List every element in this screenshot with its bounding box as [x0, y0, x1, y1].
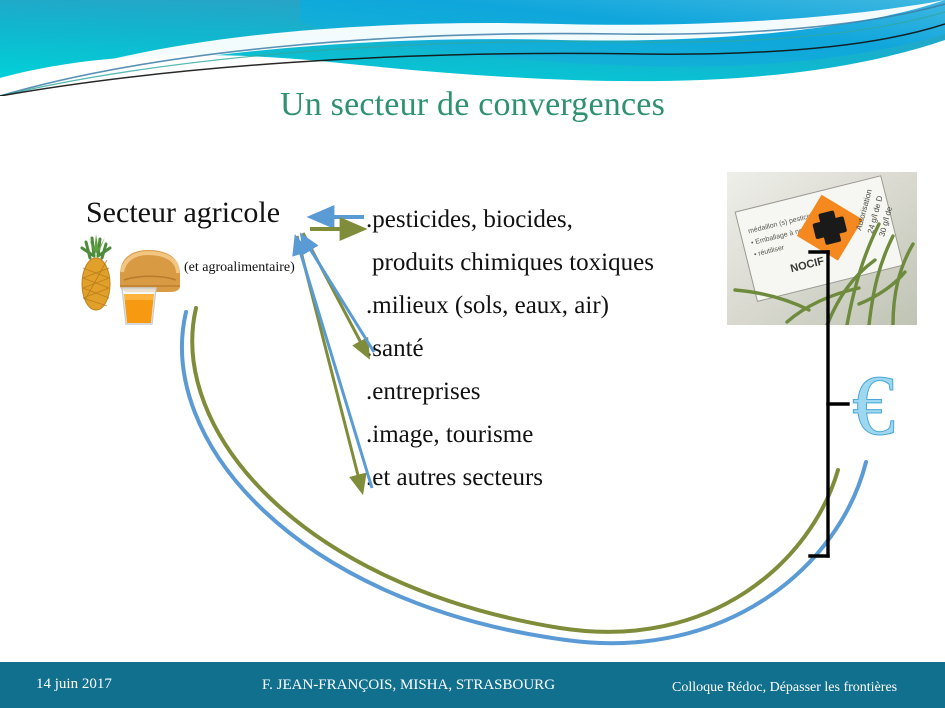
presentation-slide: Un secteur de convergences Secteur agric…: [0, 0, 945, 708]
sector-label: Secteur agricole: [86, 196, 280, 230]
pesticide-hazard-label-photo: médaillon (s) pesticide • Emballage à ne…: [727, 172, 917, 325]
arrow-olive-to-autres: [297, 236, 362, 491]
arrow-olive-to-sante: [303, 233, 368, 356]
list-item: .santé: [366, 327, 766, 370]
sector-sublabel: (et agroalimentaire): [184, 260, 295, 276]
footer-author: F. JEAN-FRANÇOIS, MISHA, STRASBOURG: [262, 677, 555, 694]
list-item: .pesticides, biocides,: [366, 198, 766, 241]
agrifood-imagery: [72, 228, 200, 326]
bread-loaf-image: [120, 250, 180, 292]
list-item: .image, tourisme: [366, 413, 766, 456]
list-item: .entreprises: [366, 370, 766, 413]
euro-symbol: €: [852, 362, 895, 448]
footer-event: Colloque Rédoc, Dépasser les frontières: [672, 680, 897, 696]
list-item: produits chimiques toxiques: [366, 241, 766, 284]
list-item: .milieux (sols, eaux, air): [366, 284, 766, 327]
arrow-blue-from-autres: [296, 238, 372, 488]
orange-juice-glass-image: [122, 288, 156, 324]
impact-list: .pesticides, biocides, produits chimique…: [366, 198, 766, 499]
page-title: Un secteur de convergences: [0, 86, 945, 124]
footer-date: 14 juin 2017: [36, 676, 112, 693]
list-item: .et autres secteurs: [366, 456, 766, 499]
arrow-blue-from-sante: [302, 236, 374, 352]
top-decorative-banner: [0, 0, 945, 96]
pineapple-image: [82, 234, 110, 310]
